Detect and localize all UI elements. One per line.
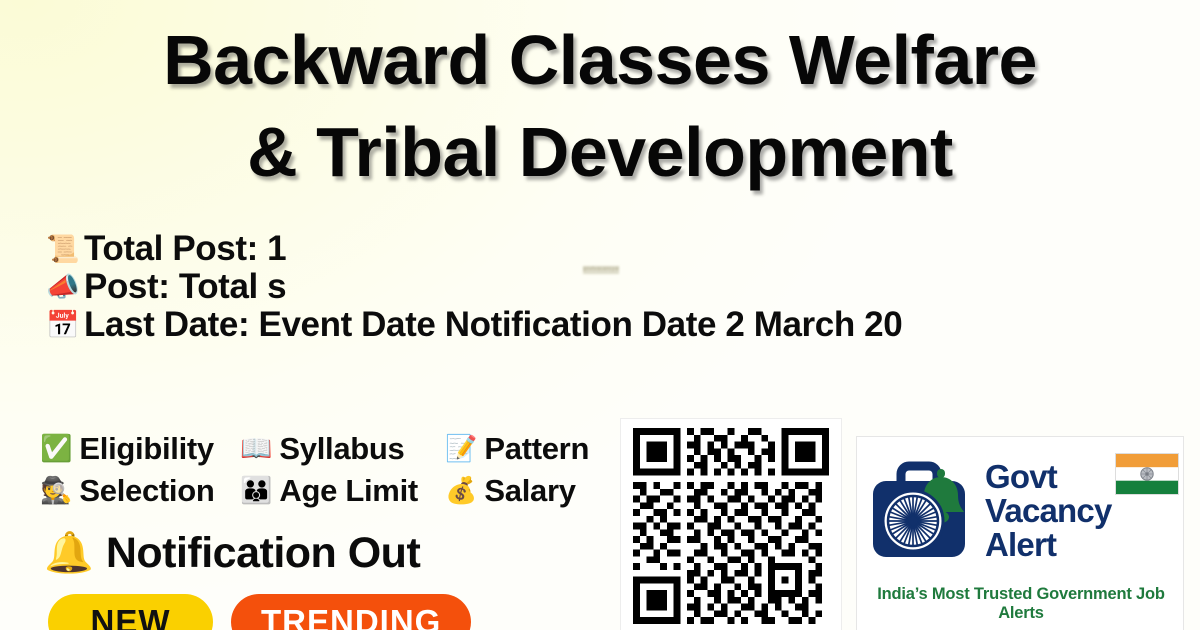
job-alert-banner: Backward Classes Welfare & Tribal Develo… [0, 0, 1200, 630]
feature-selection-label: Selection [79, 473, 214, 509]
feature-age-limit: 👪 Age Limit [240, 473, 445, 509]
feature-eligibility-label: Eligibility [79, 431, 214, 467]
feature-pattern: 📝 Pattern [445, 431, 645, 467]
feature-pattern-label: Pattern [484, 431, 589, 467]
brand-logo-card[interactable]: Govt Vacancy Alert In [856, 436, 1184, 630]
qr-code-card[interactable] [620, 418, 842, 630]
feature-syllabus: 📖 Syllabus [240, 431, 445, 467]
logo-brand-line-3: Alert [985, 528, 1112, 562]
feature-eligibility: ✅ Eligibility [40, 431, 240, 467]
job-info-list: 📜 Total Post: 1 📣 Post: Total s 📅 Last D… [46, 230, 902, 344]
info-row-total-post: 📜 Total Post: 1 [46, 230, 902, 268]
memo-exam-icon: 📝 [445, 436, 477, 462]
check-mark-icon: ✅ [40, 436, 72, 462]
bell-icon: 🔔 [44, 533, 94, 573]
calendar-icon: 📅 [46, 312, 84, 339]
info-row-post: 📣 Post: Total s [46, 268, 902, 306]
page-title: Backward Classes Welfare & Tribal Develo… [0, 14, 1200, 198]
info-last-date-text: Last Date: Event Date Notification Date … [84, 306, 902, 344]
feature-row-1: ✅ Eligibility 📖 Syllabus 📝 Pattern [40, 428, 640, 470]
feature-age-limit-label: Age Limit [279, 473, 418, 509]
logo-brand-line-1: Govt [985, 460, 1112, 494]
qr-code-icon [633, 428, 829, 624]
open-book-icon: 📖 [240, 436, 272, 462]
detective-icon: 🕵 [40, 478, 72, 504]
notification-out-row: 🔔 Notification Out [44, 528, 420, 578]
logo-wordmark: Govt Vacancy Alert [985, 460, 1112, 562]
info-total-post-text: Total Post: 1 [84, 230, 286, 268]
money-bag-hand-icon: 💰 [445, 478, 477, 504]
feature-selection: 🕵 Selection [40, 473, 240, 509]
feature-salary: 💰 Salary [445, 473, 645, 509]
logo-tagline: India’s Most Trusted Government Job Aler… [857, 585, 1184, 623]
new-badge[interactable]: NEW [48, 594, 213, 630]
megaphone-icon: 📣 [46, 274, 84, 301]
feature-salary-label: Salary [484, 473, 575, 509]
notification-out-label: Notification Out [106, 528, 420, 578]
title-line-1: Backward Classes Welfare [40, 14, 1160, 106]
badge-row: NEW TRENDING [48, 594, 471, 630]
feature-grid: ✅ Eligibility 📖 Syllabus 📝 Pattern 🕵 Sel… [40, 428, 640, 512]
family-icon: 👪 [240, 478, 272, 504]
india-flag-icon [1115, 453, 1179, 495]
feature-row-2: 🕵 Selection 👪 Age Limit 💰 Salary [40, 470, 640, 512]
watermark: govtvacancyalert [583, 266, 619, 274]
trending-badge[interactable]: TRENDING [231, 594, 471, 630]
briefcase-chakra-bell-icon [867, 455, 983, 567]
logo-brand-line-2: Vacancy [985, 494, 1112, 528]
document-search-icon: 📜 [46, 236, 84, 263]
info-post-text: Post: Total s [84, 268, 286, 306]
title-line-2: & Tribal Development [40, 106, 1160, 198]
info-row-last-date: 📅 Last Date: Event Date Notification Dat… [46, 306, 902, 344]
feature-syllabus-label: Syllabus [279, 431, 404, 467]
